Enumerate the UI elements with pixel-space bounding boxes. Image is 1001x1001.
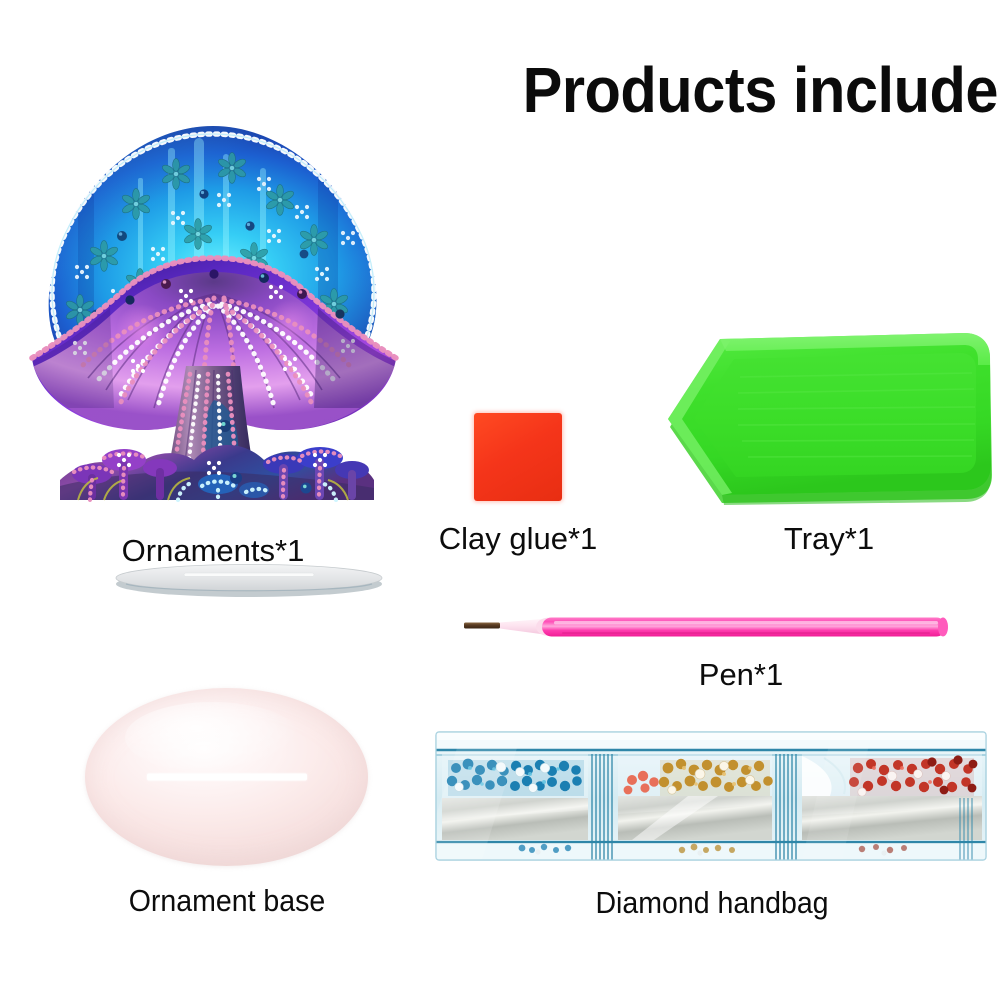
- ornament-product-image: [18, 108, 408, 508]
- product-include-infographic: Products include: [0, 0, 1001, 1001]
- base-sheen: [125, 702, 300, 773]
- base-slot: [147, 774, 307, 781]
- ornament-base-caption: Ornament base: [75, 884, 379, 918]
- mushroom-ornament-icon: [18, 108, 408, 508]
- mushroom-base-cluster: [60, 445, 374, 500]
- page-title: Products include: [470, 58, 998, 123]
- rhinestone-bag-icon: [432, 724, 990, 870]
- drill-pen-icon: [462, 607, 952, 647]
- tray-caption: Tray*1: [700, 522, 958, 556]
- pouch-gold: [618, 754, 773, 840]
- pen-caption: Pen*1: [580, 658, 902, 692]
- oval-acrylic-base-icon: [85, 688, 368, 866]
- clay-glue-square-icon: [474, 413, 562, 501]
- diamond-handbag-caption: Diamond handbag: [469, 886, 955, 920]
- ornaments-caption: Ornaments*1: [18, 534, 408, 568]
- diamond-tray-icon: [660, 315, 998, 505]
- clay-glue-caption: Clay glue*1: [396, 522, 640, 556]
